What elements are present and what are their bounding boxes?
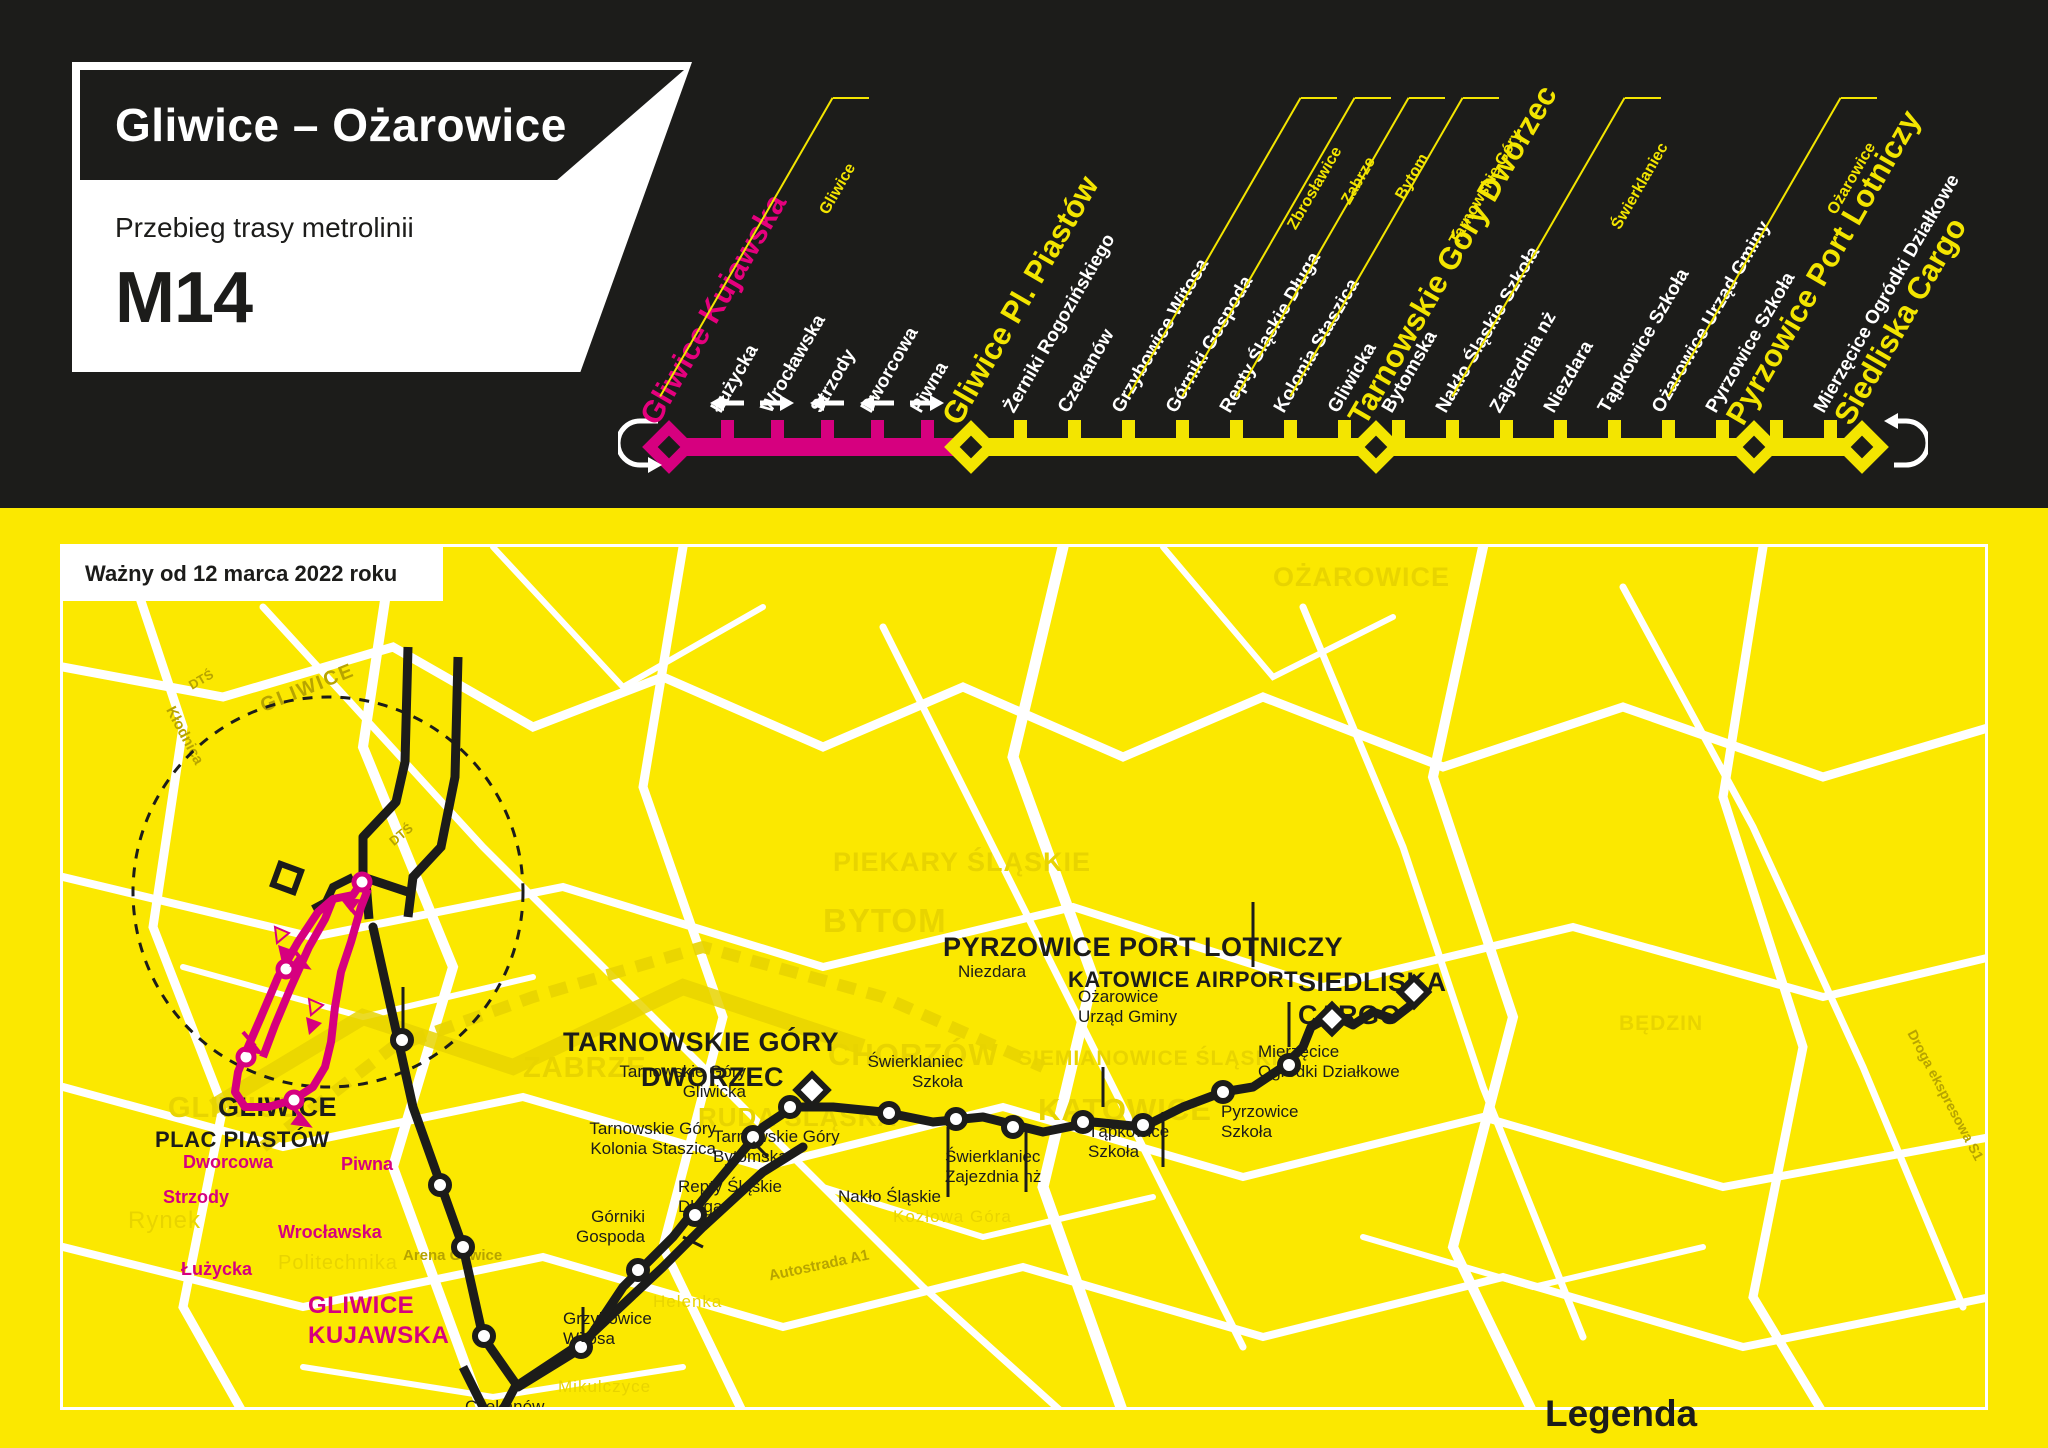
- stop-tick: [1230, 420, 1243, 442]
- stop-tick: [1446, 420, 1459, 442]
- interchange-label-swierklaniec: Świerklaniec: [1608, 140, 1672, 233]
- route-strip: Gliwice Kujawska Łużycka Wrocławska Strz…: [0, 0, 2048, 508]
- diagram-panel: Gliwice – Ożarowice Przebieg trasy metro…: [0, 0, 2048, 508]
- stop-tick: [1554, 420, 1567, 442]
- stop-tick: [1662, 420, 1675, 442]
- stop-tick: [1068, 420, 1081, 442]
- interchange-leader-top: [1409, 97, 1445, 99]
- stop-tick: [871, 420, 884, 442]
- validity-text: Ważny od 12 marca 2022 roku: [85, 561, 397, 587]
- interchange-leader-top: [1355, 97, 1391, 99]
- stop-tick: [1338, 420, 1351, 442]
- interchange-leader-top: [1841, 97, 1877, 99]
- stop-tick: [1824, 420, 1837, 442]
- interchange-leader-top: [833, 97, 869, 99]
- map-stop-zerniki-rogozinskiego: ŻernikiRogozińskiego: [301, 1407, 426, 1410]
- stop-tick: [1716, 420, 1729, 442]
- validity-badge: Ważny od 12 marca 2022 roku: [63, 547, 443, 601]
- stop-tick: [771, 420, 784, 442]
- stop-tick: [821, 420, 834, 442]
- interchange-leader-top: [1625, 97, 1661, 99]
- stop-tick: [721, 420, 734, 442]
- map-panel: Ważny od 12 marca 2022 roku OŻAROWICE PI…: [0, 508, 2048, 1448]
- route-map-poster: Gliwice – Ożarowice Przebieg trasy metro…: [0, 0, 2048, 1448]
- stop-tick: [1284, 420, 1297, 442]
- legend-title: Legenda: [1545, 1393, 1697, 1435]
- loop-terminus-right-icon: [1872, 413, 1928, 477]
- interchange-leader-top: [1301, 97, 1337, 99]
- interchange-label-gliwice: Gliwice: [816, 160, 860, 218]
- route-overlay: [63, 547, 1988, 1410]
- stop-tick: [1014, 420, 1027, 442]
- stop-tick: [1122, 420, 1135, 442]
- map-canvas[interactable]: Ważny od 12 marca 2022 roku OŻAROWICE PI…: [60, 544, 1988, 1410]
- stop-tick: [1608, 420, 1621, 442]
- station-label-niezdara: Niezdara: [1540, 337, 1599, 417]
- interchange-marker-gliwice-pl-piastow: [944, 420, 998, 474]
- stop-tick: [1176, 420, 1189, 442]
- stop-tick: [1500, 420, 1513, 442]
- stop-tick: [921, 420, 934, 442]
- interchange-leader-top: [1463, 97, 1499, 99]
